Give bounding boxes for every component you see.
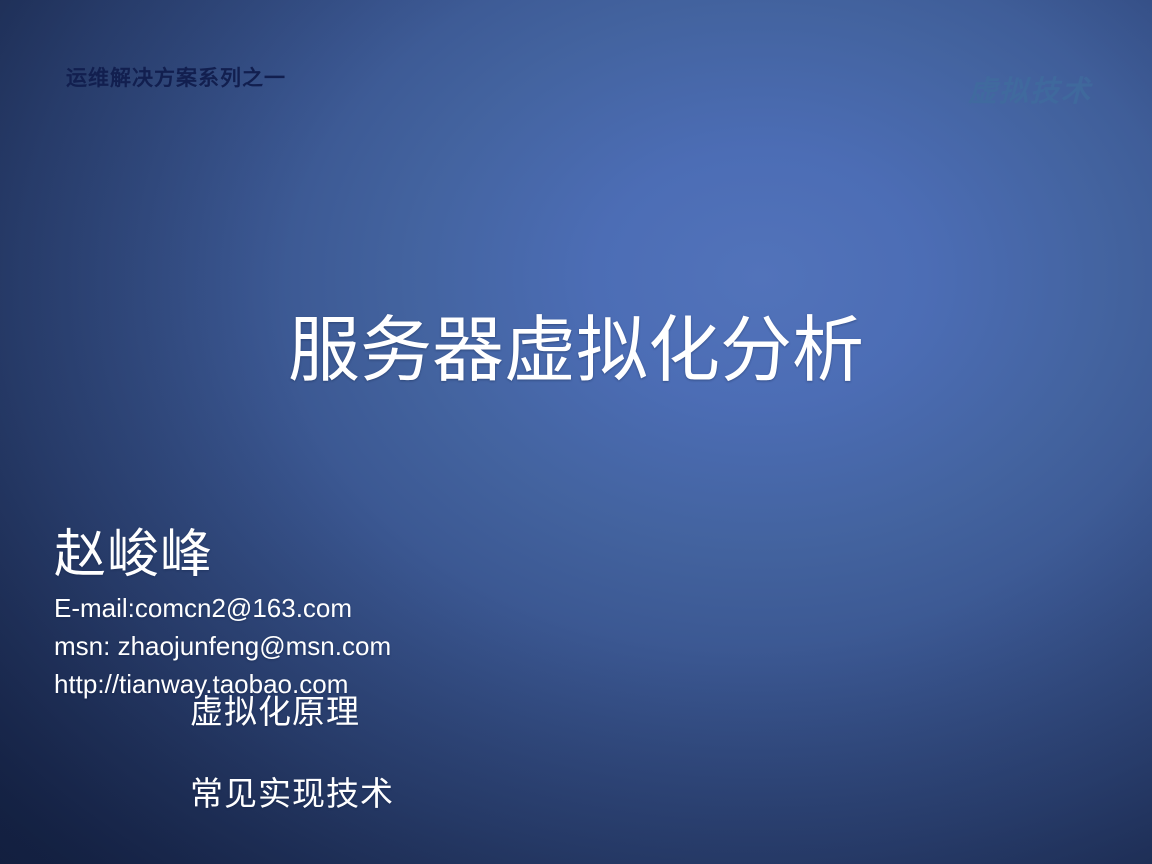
agenda-list: 虚拟化原理 常见实现技术 xyxy=(190,694,394,813)
background-vignette xyxy=(0,0,1152,864)
presenter-name: 赵峻峰 xyxy=(54,527,391,583)
series-label: 运维解决方案系列之一 xyxy=(66,62,286,92)
brand-watermark: 虚拟技术 xyxy=(968,68,1092,110)
presenter-info: 赵峻峰 E-mail:comcn2@163.com msn: zhaojunfe… xyxy=(54,527,391,703)
agenda-item-common-technologies: 常见实现技术 xyxy=(190,776,394,812)
page-title: 服务器虚拟化分析 xyxy=(0,310,1152,391)
presentation-slide: 运维解决方案系列之一 虚拟技术 服务器虚拟化分析 赵峻峰 E-mail:comc… xyxy=(0,0,1152,864)
presenter-msn: msn: zhaojunfeng@msn.com xyxy=(54,627,391,665)
agenda-item-virtualization-principles: 虚拟化原理 xyxy=(190,694,394,730)
presenter-email: E-mail:comcn2@163.com xyxy=(54,589,391,627)
